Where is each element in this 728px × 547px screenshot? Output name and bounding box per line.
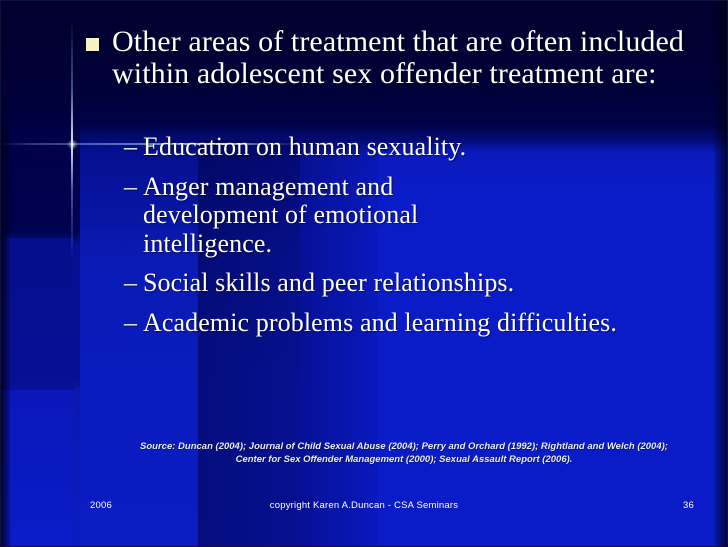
presentation-slide: Other areas of treatment that are often … bbox=[0, 0, 728, 547]
square-bullet-icon bbox=[86, 38, 99, 51]
footer-copyright: copyright Karen A.Duncan - CSA Seminars bbox=[0, 500, 728, 511]
sub-bullet-text: Anger management and development of emot… bbox=[143, 173, 513, 259]
dash-bullet-icon: – bbox=[124, 133, 143, 162]
slide-content: Other areas of treatment that are often … bbox=[0, 0, 728, 547]
footer-page-number: 36 bbox=[683, 500, 694, 511]
sub-bullet-item: – Academic problems and learning difficu… bbox=[124, 309, 704, 338]
lead-bullet-text: Other areas of treatment that are often … bbox=[112, 26, 700, 91]
sub-bullet-item: – Anger management and development of em… bbox=[124, 173, 704, 259]
slide-footer: 2006 copyright Karen A.Duncan - CSA Semi… bbox=[0, 499, 728, 519]
sub-bullet-text: Social skills and peer relationships. bbox=[143, 269, 704, 298]
source-citation: Source: Duncan (2004); Journal of Child … bbox=[126, 441, 682, 466]
sub-bullet-list: – Education on human sexuality. – Anger … bbox=[124, 133, 704, 349]
dash-bullet-icon: – bbox=[124, 173, 143, 202]
lead-bullet-item: Other areas of treatment that are often … bbox=[86, 26, 700, 91]
dash-bullet-icon: – bbox=[124, 269, 143, 298]
sub-bullet-text: Education on human sexuality. bbox=[143, 133, 704, 162]
sub-bullet-text: Academic problems and learning difficult… bbox=[143, 309, 653, 338]
sub-bullet-item: – Education on human sexuality. bbox=[124, 133, 704, 162]
sub-bullet-item: – Social skills and peer relationships. bbox=[124, 269, 704, 298]
dash-bullet-icon: – bbox=[124, 309, 143, 338]
